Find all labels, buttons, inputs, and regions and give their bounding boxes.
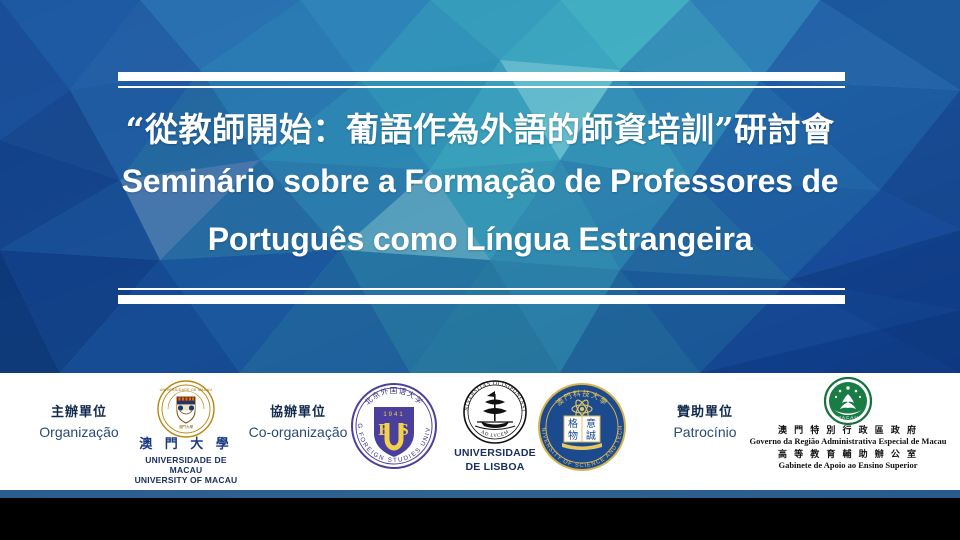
ulisboa-line1: UNIVERSIDADE <box>447 447 543 459</box>
title-chinese: “從教師開始：葡語作為外語的師資培訓”研討會 <box>40 108 920 152</box>
university-of-macau-seal-icon: UNIVERSIDADE DE MACAU <box>128 378 244 440</box>
gaes-line1-pt: Governo da Região Administrativa Especia… <box>736 437 960 447</box>
bfsu-shield-icon: 北京外国语大学 BEIJING FOREIGN STUDIES UNIVERSI… <box>349 381 439 473</box>
svg-text:1941: 1941 <box>383 412 404 418</box>
title-rule-top <box>118 72 845 88</box>
rule-thick-bar <box>118 295 845 304</box>
uom-name-en: UNIVERSITY OF MACAU <box>128 476 244 486</box>
gaes-line2-pt: Gabinete de Apoio ao Ensino Superior <box>736 461 960 471</box>
macao-sar-emblem-icon: MACAU <box>736 377 960 425</box>
organizer-caption: 主辦單位 Organização <box>14 405 144 442</box>
logo-macau-university-of-science-and-technology: 澳門科技大學 MACAU UNIVERSITY OF SCIENCE AND T… <box>536 381 628 475</box>
svg-text:誠: 誠 <box>586 429 596 442</box>
organizer-label-pt: Organização <box>14 424 144 442</box>
footer-black-bar <box>0 498 960 540</box>
gaes-line2-cn: 高 等 教 育 輔 助 辦 公 室 <box>736 450 960 460</box>
rule-thick-bar <box>118 72 845 81</box>
coorganizer-caption: 協辦單位 Co-organização <box>238 405 358 442</box>
band-bottom-strip <box>0 490 960 498</box>
logo-university-of-macau: UNIVERSIDADE DE MACAU <box>128 378 244 486</box>
ulisboa-seal-icon: VNIVERSITAS OLISIPONENSIS AD LVCEM <box>447 378 543 446</box>
organizer-label-cn: 主辦單位 <box>14 405 144 421</box>
sponsor-band: 主辦單位 Organização UNIVERSIDADE DE MACAU <box>0 373 960 490</box>
gaes-line1-cn: 澳 門 特 別 行 政 區 政 府 <box>736 426 960 436</box>
uom-name-pt: UNIVERSIDADE DE MACAU <box>128 456 244 476</box>
ulisboa-line2: DE LISBOA <box>447 461 543 473</box>
svg-text:UNIVERSIDADE DE MACAU: UNIVERSIDADE DE MACAU <box>160 388 213 392</box>
logo-universidade-de-lisboa: VNIVERSITAS OLISIPONENSIS AD LVCEM UNIVE… <box>447 378 543 473</box>
logo-beijing-foreign-studies-university: 北京外国语大学 BEIJING FOREIGN STUDIES UNIVERSI… <box>349 381 439 473</box>
svg-text:MACAU: MACAU <box>837 415 859 420</box>
svg-text:格: 格 <box>568 417 578 430</box>
title-portuguese-line1: Seminário sobre a Formação de Professore… <box>40 152 920 210</box>
svg-text:澳門大學: 澳門大學 <box>179 424 194 429</box>
title-block: “從教師開始：葡語作為外語的師資培訓”研討會 Seminário sobre a… <box>40 108 920 268</box>
hero-background: “從教師開始：葡語作為外語的師資培訓”研討會 Seminário sobre a… <box>0 0 960 373</box>
title-portuguese-line2: Português como Língua Estrangeira <box>40 210 920 268</box>
coorganizer-label-pt: Co-organização <box>238 424 358 442</box>
title-rule-bottom <box>118 288 845 304</box>
must-seal-icon: 澳門科技大學 MACAU UNIVERSITY OF SCIENCE AND T… <box>536 381 628 475</box>
rule-thin-line <box>118 86 845 88</box>
presentation-slide: “從教師開始：葡語作為外語的師資培訓”研討會 Seminário sobre a… <box>0 0 960 540</box>
uom-name-cn: 澳 門 大 學 <box>128 438 244 453</box>
coorganizer-label-cn: 協辦單位 <box>238 405 358 421</box>
svg-text:意: 意 <box>586 417 596 430</box>
svg-text:物: 物 <box>568 429 578 442</box>
logo-macao-sar-gaes: MACAU 澳 門 特 別 行 政 區 政 府 Governo da Regiã… <box>736 377 960 471</box>
